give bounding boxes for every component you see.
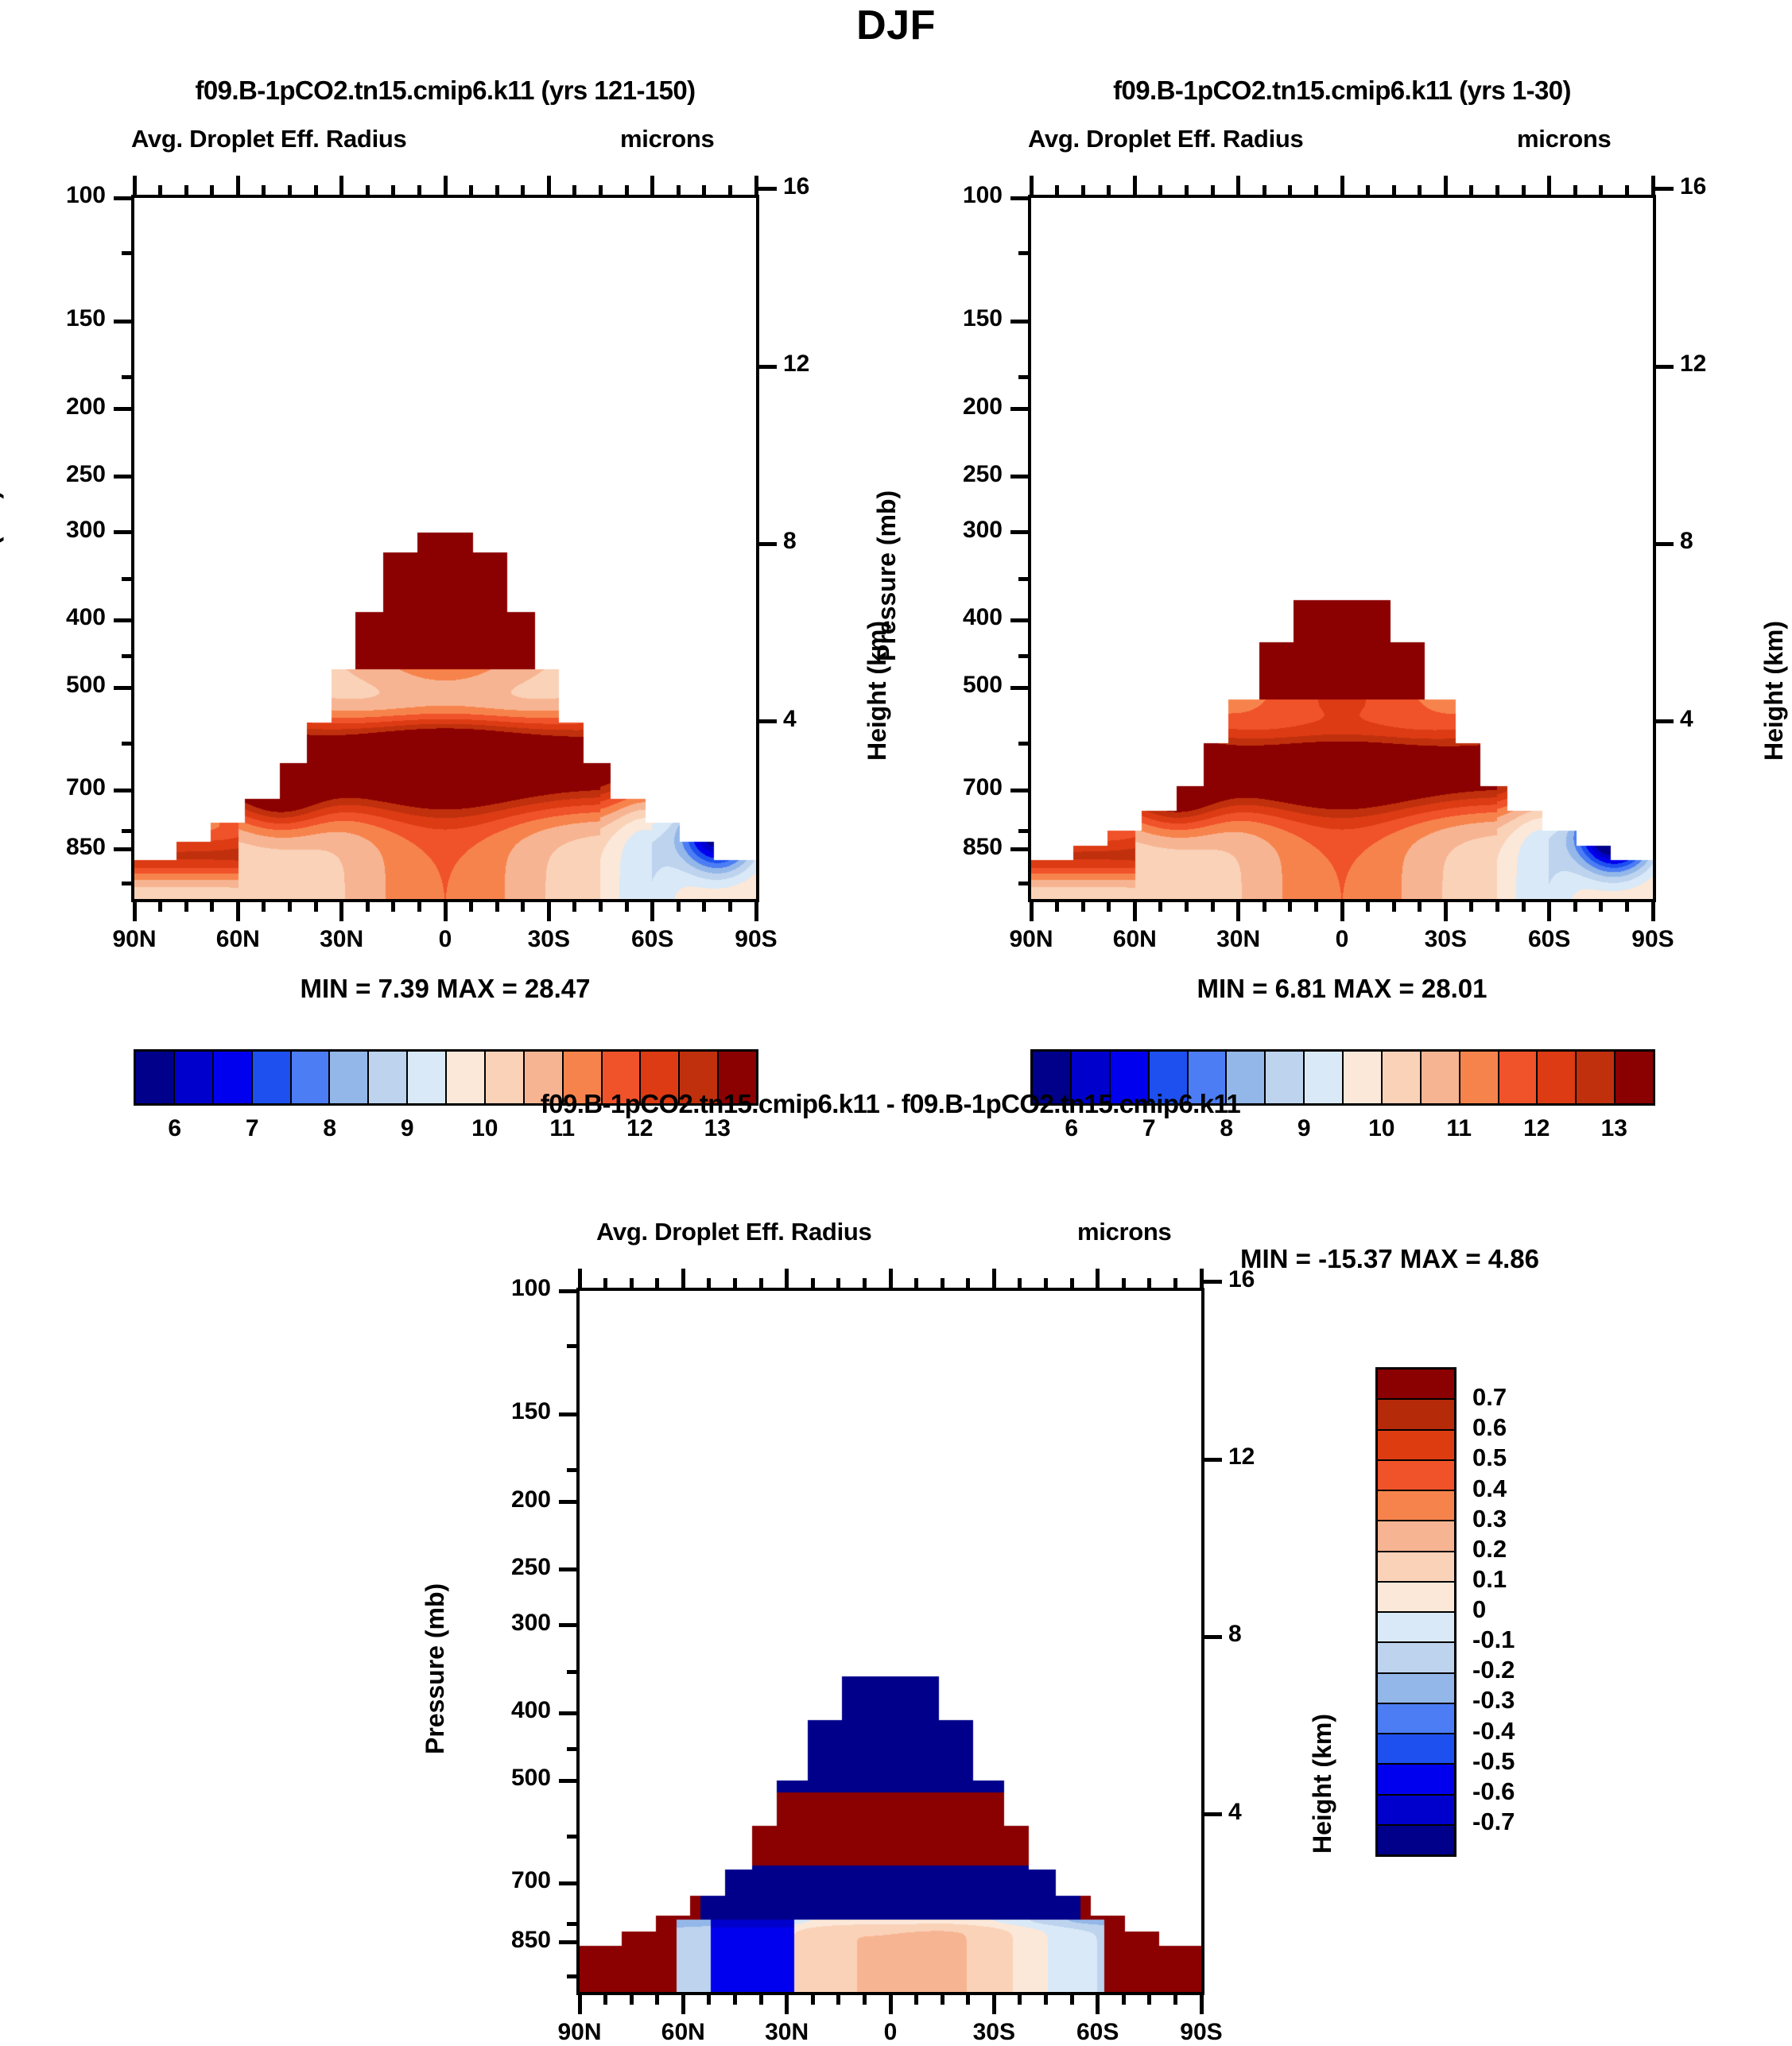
colorbar-segment[interactable] [1538, 1052, 1577, 1103]
lat-tick-bottom [1444, 901, 1448, 921]
colorbar-tick-label: 0.4 [1472, 1474, 1616, 1503]
pressure-tick-label: 850 [909, 834, 1003, 861]
lat-tick-bottom [1651, 901, 1655, 921]
lat-tick-bottom [759, 1994, 763, 2005]
height-tick-label: 12 [1680, 351, 1736, 378]
lat-tick-top [759, 1278, 763, 1289]
lat-tick-bottom [339, 901, 343, 921]
pressure-minor-tick [122, 742, 133, 746]
contour-field [580, 1291, 1201, 1992]
lat-tick-bottom [702, 901, 706, 912]
lat-tick-top [1651, 176, 1655, 196]
colorbar-segment[interactable] [1577, 1052, 1616, 1103]
height-tick [1203, 1812, 1222, 1816]
colorbar-segment[interactable] [1378, 1674, 1454, 1704]
lat-tick-bottom [1211, 901, 1215, 912]
pressure-tick-label: 250 [457, 1554, 551, 1581]
lat-tick-bottom [785, 1994, 789, 2014]
pressure-tick-label: 250 [12, 461, 106, 488]
lat-tick-bottom [1185, 901, 1189, 912]
lat-tick-bottom [941, 1994, 944, 2005]
y2-axis-label: Height (km) [1759, 621, 1789, 761]
colorbar-segment[interactable] [1378, 1796, 1454, 1826]
lat-tick-top [1173, 1278, 1177, 1289]
pressure-tick-label: 400 [909, 604, 1003, 631]
height-tick-label: 4 [1680, 706, 1736, 733]
pressure-minor-tick [122, 251, 133, 255]
colorbar-segment[interactable] [292, 1052, 331, 1103]
pressure-tick [114, 530, 133, 534]
pressure-tick [559, 1500, 578, 1504]
pressure-tick-label: 400 [457, 1697, 551, 1724]
pressure-minor-tick [1018, 882, 1030, 885]
lat-tick-bottom [677, 901, 681, 912]
lat-tick-bottom [547, 901, 551, 921]
pressure-minor-tick [1018, 654, 1030, 658]
pressure-minor-tick [122, 654, 133, 658]
lat-tick-top [547, 176, 551, 196]
colorbar-segment[interactable] [1378, 1461, 1454, 1491]
lat-tick-top [133, 176, 137, 196]
lat-tick-bottom [133, 901, 137, 921]
colorbar-segment[interactable] [1378, 1431, 1454, 1461]
pressure-minor-tick [1018, 829, 1030, 833]
colorbar-tick-label: 0.2 [1472, 1535, 1616, 1564]
lat-tick-top [1044, 1278, 1048, 1289]
lat-tick-top [1366, 185, 1370, 196]
lat-tick-top [314, 185, 318, 196]
lat-tick-top [625, 185, 629, 196]
lat-tick-bottom [1392, 901, 1396, 912]
pressure-tick-label: 100 [457, 1275, 551, 1302]
lat-tick-top [366, 185, 370, 196]
pressure-minor-tick [122, 375, 133, 379]
lat-tick-top [1096, 1269, 1100, 1289]
lat-tick-bottom [1018, 1994, 1022, 2005]
colorbar-segment[interactable] [1616, 1052, 1653, 1103]
colorbar-segment[interactable] [1378, 1370, 1454, 1400]
lat-tick-bottom [1044, 1994, 1048, 2005]
lat-tick-bottom [966, 1994, 970, 2005]
pressure-tick [114, 196, 133, 200]
pressure-tick-label: 850 [12, 834, 106, 861]
panel-units-label: microns [1077, 1218, 1172, 1246]
height-tick-label: 16 [783, 173, 839, 200]
pressure-minor-tick [567, 1468, 578, 1472]
pressure-minor-tick [567, 1747, 578, 1751]
lat-tick-top [1444, 176, 1448, 196]
lat-tick-top [236, 176, 240, 196]
lat-tick-bottom [1314, 901, 1318, 912]
height-tick [1203, 1458, 1222, 1462]
colorbar-segment[interactable] [1499, 1052, 1538, 1103]
pressure-tick [559, 1779, 578, 1783]
lat-tick-top [495, 185, 499, 196]
pressure-minor-tick [1018, 375, 1030, 379]
pressure-minor-tick [567, 1974, 578, 1978]
pressure-minor-tick [567, 1835, 578, 1839]
lat-tick-bottom [262, 901, 266, 912]
colorbar-tick-label: 0.3 [1472, 1505, 1616, 1533]
lat-tick-bottom [1573, 901, 1577, 912]
lat-tick-top [1018, 1278, 1022, 1289]
lat-tick-top [1392, 185, 1396, 196]
colorbar-segment[interactable] [175, 1052, 214, 1103]
min-max-label: MIN = 6.81 MAX = 28.01 [853, 974, 1792, 1004]
contour-field [1031, 198, 1653, 899]
lat-tick-bottom [1418, 901, 1422, 912]
lat-tick-bottom [1366, 901, 1370, 912]
pressure-tick-label: 150 [457, 1398, 551, 1425]
lat-tick-top [521, 185, 525, 196]
colorbar-tick-label: -0.5 [1472, 1747, 1616, 1776]
lat-tick-bottom [444, 901, 448, 921]
lat-tick-top [1625, 185, 1629, 196]
pressure-tick-label: 500 [909, 672, 1003, 699]
colorbar-segment[interactable] [1378, 1643, 1454, 1673]
pressure-tick-label: 850 [457, 1927, 551, 1954]
lat-tick-bottom [863, 1994, 867, 2005]
min-max-label: MIN = -15.37 MAX = 4.86 [1240, 1244, 1733, 1274]
pressure-tick-label: 200 [909, 393, 1003, 420]
colorbar-segment[interactable] [1378, 1734, 1454, 1765]
lat-tick-bottom [495, 901, 499, 912]
lat-tick-top [1547, 176, 1551, 196]
lat-tick-bottom [625, 901, 629, 912]
lat-tick-bottom [733, 1994, 737, 2005]
y-axis-label: Pressure (mb) [872, 490, 902, 661]
colorbar-tick-label: 0 [1472, 1595, 1616, 1624]
colorbar-tick-label: -0.6 [1472, 1777, 1616, 1806]
pressure-tick-label: 250 [909, 461, 1003, 488]
lat-tick-label: 90S [1130, 2019, 1273, 2046]
colorbar-segment[interactable] [1378, 1826, 1454, 1854]
colorbar-tick-label: 0.7 [1472, 1383, 1616, 1412]
lat-tick-top [184, 185, 188, 196]
colorbar-segment[interactable] [1378, 1491, 1454, 1521]
lat-tick-top [444, 176, 448, 196]
height-tick-label: 4 [783, 706, 839, 733]
pressure-minor-tick [122, 475, 133, 479]
colorbar-segment[interactable] [136, 1052, 175, 1103]
lat-tick-bottom [1158, 901, 1162, 912]
pressure-tick [114, 618, 133, 622]
pressure-tick [114, 847, 133, 851]
lat-tick-bottom [811, 1994, 815, 2005]
height-tick [1654, 187, 1674, 191]
pressure-tick [1010, 407, 1030, 411]
lat-tick-top [1495, 185, 1499, 196]
lat-tick-top [1147, 1278, 1151, 1289]
pressure-tick-label: 100 [12, 182, 106, 209]
lat-tick-bottom [681, 1994, 685, 2014]
plot-area [131, 195, 759, 902]
figure-title: DJF [0, 2, 1792, 49]
lat-tick-top [966, 1278, 970, 1289]
pressure-tick-label: 200 [457, 1486, 551, 1513]
lat-tick-bottom [1340, 901, 1344, 921]
plot-area [576, 1288, 1204, 1995]
lat-tick-bottom [288, 901, 292, 912]
lat-tick-top [1107, 185, 1111, 196]
lat-tick-bottom [1030, 901, 1034, 921]
lat-tick-bottom [366, 901, 370, 912]
pressure-tick-label: 700 [909, 774, 1003, 801]
colorbar-tick-label: 13 [1566, 1115, 1662, 1142]
lat-tick-top [914, 1278, 918, 1289]
lat-tick-bottom [1522, 901, 1526, 912]
lat-tick-top [1263, 185, 1266, 196]
height-tick [758, 719, 777, 723]
lat-tick-bottom [1133, 901, 1137, 921]
lat-tick-top [992, 1269, 996, 1289]
panel-title: f09.B-1pCO2.tn15.cmip6.k11 - f09.B-1pCO2… [334, 1089, 1447, 1119]
pressure-tick [1010, 196, 1030, 200]
pressure-tick [114, 407, 133, 411]
lat-tick-top [572, 185, 576, 196]
lat-tick-bottom [1096, 1994, 1100, 2014]
lat-tick-top [578, 1269, 582, 1289]
lat-tick-bottom [1236, 901, 1240, 921]
lat-tick-bottom [914, 1994, 918, 2005]
pressure-minor-tick [567, 1344, 578, 1348]
lat-tick-top [417, 185, 421, 196]
pressure-tick [1010, 686, 1030, 690]
lat-tick-top [1522, 185, 1526, 196]
colorbar-tick-label: 0.5 [1472, 1443, 1616, 1472]
colorbar-segment[interactable] [1378, 1613, 1454, 1643]
pressure-tick [1010, 847, 1030, 851]
pressure-tick-label: 400 [12, 604, 106, 631]
lat-tick-top [1340, 176, 1344, 196]
panel-subtitle-variable: Avg. Droplet Eff. Radius [596, 1218, 871, 1246]
pressure-minor-tick [1018, 742, 1030, 746]
lat-tick-top [1573, 185, 1577, 196]
lat-tick-top [288, 185, 292, 196]
lat-tick-bottom [210, 901, 214, 912]
lat-tick-top [1185, 185, 1189, 196]
lat-tick-bottom [1122, 1994, 1126, 2005]
lat-tick-top [603, 1278, 607, 1289]
lat-tick-label: 90S [685, 926, 828, 953]
colorbar-segment[interactable] [1460, 1052, 1499, 1103]
lat-tick-top [1133, 176, 1137, 196]
colorbar-tick-label: -0.3 [1472, 1686, 1616, 1715]
lat-tick-top [391, 185, 395, 196]
panel-title: f09.B-1pCO2.tn15.cmip6.k11 (yrs 1-30) [785, 76, 1792, 106]
height-tick [1203, 1635, 1222, 1639]
pressure-tick-label: 700 [457, 1867, 551, 1894]
lat-tick-bottom [707, 1994, 711, 2005]
lat-tick-top [1122, 1278, 1126, 1289]
lat-tick-top [785, 1269, 789, 1289]
lat-tick-top [1200, 1269, 1204, 1289]
lat-tick-top [1469, 185, 1473, 196]
min-max-label: MIN = 7.39 MAX = 28.47 [0, 974, 934, 1004]
lat-tick-bottom [521, 901, 525, 912]
lat-tick-bottom [1173, 1994, 1177, 2005]
lat-tick-top [1055, 185, 1059, 196]
colorbar-tick-label: 0.1 [1472, 1565, 1616, 1594]
pressure-tick-label: 200 [12, 393, 106, 420]
colorbar-tick-label: 0.6 [1472, 1413, 1616, 1442]
lat-tick-top [469, 185, 473, 196]
lat-tick-top [863, 1278, 867, 1289]
lat-tick-top [728, 185, 732, 196]
lat-tick-bottom [992, 1994, 996, 2014]
pressure-minor-tick [122, 577, 133, 581]
lat-tick-top [655, 1278, 659, 1289]
lat-tick-bottom [889, 1994, 893, 2014]
colorbar-segment[interactable] [1378, 1583, 1454, 1613]
plot-area [1028, 195, 1656, 902]
pressure-tick [1010, 320, 1030, 324]
pressure-tick-label: 300 [909, 517, 1003, 544]
lat-tick-bottom [1200, 1994, 1204, 2014]
colorbar-tick-label: -0.2 [1472, 1656, 1616, 1684]
pressure-minor-tick [122, 882, 133, 885]
pressure-minor-tick [567, 1670, 578, 1674]
colorbar-segment[interactable] [1378, 1552, 1454, 1583]
lat-tick-bottom [603, 1994, 607, 2005]
lat-tick-bottom [1288, 901, 1292, 912]
colorbar-segment[interactable] [1378, 1704, 1454, 1734]
lat-tick-top [677, 185, 681, 196]
pressure-tick-label: 500 [457, 1765, 551, 1792]
colorbar-tick-label: 13 [669, 1115, 765, 1142]
colorbar-vertical[interactable] [1375, 1367, 1456, 1857]
colorbar-segment[interactable] [214, 1052, 253, 1103]
lat-tick-top [1070, 1278, 1074, 1289]
lat-tick-bottom [1625, 901, 1629, 912]
lat-tick-top [1236, 176, 1240, 196]
lat-tick-top [702, 185, 706, 196]
lat-tick-top [1314, 185, 1318, 196]
lat-tick-top [836, 1278, 840, 1289]
lat-tick-label: 90S [1581, 926, 1724, 953]
lat-tick-top [158, 185, 162, 196]
lat-tick-bottom [1495, 901, 1499, 912]
lat-tick-top [1081, 185, 1085, 196]
height-tick-label: 8 [1228, 1621, 1284, 1648]
height-tick [758, 542, 777, 546]
pressure-tick [114, 789, 133, 792]
lat-tick-top [630, 1278, 634, 1289]
pressure-tick [559, 1623, 578, 1627]
pressure-tick [1010, 789, 1030, 792]
y-axis-label: Pressure (mb) [0, 490, 5, 661]
pressure-tick [559, 1881, 578, 1885]
lat-tick-top [262, 185, 266, 196]
colorbar-tick-label: -0.7 [1472, 1808, 1616, 1836]
pressure-tick-label: 500 [12, 672, 106, 699]
pressure-tick [559, 1412, 578, 1416]
lat-tick-bottom [572, 901, 576, 912]
height-tick [1654, 365, 1674, 369]
lat-tick-top [681, 1269, 685, 1289]
colorbar-segment[interactable] [253, 1052, 292, 1103]
colorbar-tick-label: -0.4 [1472, 1717, 1616, 1746]
lat-tick-bottom [630, 1994, 634, 2005]
lat-tick-bottom [728, 901, 732, 912]
lat-tick-bottom [184, 901, 188, 912]
pressure-tick-label: 700 [12, 774, 106, 801]
lat-tick-bottom [655, 1994, 659, 2005]
height-tick [1654, 542, 1674, 546]
lat-tick-top [941, 1278, 944, 1289]
lat-tick-top [889, 1269, 893, 1289]
contour-field [134, 198, 756, 899]
height-tick-label: 8 [1680, 528, 1736, 555]
pressure-tick [1010, 618, 1030, 622]
colorbar-tick-label: -0.1 [1472, 1626, 1616, 1654]
lat-tick-bottom [599, 901, 603, 912]
lat-tick-bottom [1547, 901, 1551, 921]
lat-tick-top [1158, 185, 1162, 196]
height-tick [1654, 719, 1674, 723]
height-tick-label: 16 [1680, 173, 1736, 200]
pressure-tick [114, 320, 133, 324]
pressure-tick [559, 1289, 578, 1293]
lat-tick-bottom [314, 901, 318, 912]
pressure-tick-label: 150 [909, 305, 1003, 332]
pressure-tick [1010, 530, 1030, 534]
height-tick-label: 8 [783, 528, 839, 555]
pressure-tick-label: 150 [12, 305, 106, 332]
lat-tick-top [210, 185, 214, 196]
lat-tick-bottom [236, 901, 240, 921]
pressure-tick-label: 300 [12, 517, 106, 544]
height-tick-label: 12 [783, 351, 839, 378]
height-tick [758, 365, 777, 369]
lat-tick-top [733, 1278, 737, 1289]
colorbar-segment[interactable] [1378, 1400, 1454, 1430]
lat-tick-bottom [1599, 901, 1603, 912]
lat-tick-top [1030, 176, 1034, 196]
pressure-minor-tick [567, 1922, 578, 1926]
lat-tick-top [650, 176, 654, 196]
lat-tick-bottom [650, 901, 654, 921]
y2-axis-label: Height (km) [1308, 1714, 1337, 1854]
pressure-tick-label: 100 [909, 182, 1003, 209]
pressure-tick [114, 686, 133, 690]
pressure-tick [559, 1711, 578, 1715]
pressure-minor-tick [1018, 475, 1030, 479]
lat-tick-top [1211, 185, 1215, 196]
lat-tick-top [707, 1278, 711, 1289]
pressure-minor-tick [122, 829, 133, 833]
lat-tick-bottom [1469, 901, 1473, 912]
panel-subtitle-variable: Avg. Droplet Eff. Radius [131, 125, 406, 153]
height-tick-label: 4 [1228, 1799, 1284, 1826]
colorbar-segment[interactable] [1378, 1521, 1454, 1552]
y-axis-label: Pressure (mb) [421, 1583, 450, 1754]
lat-tick-bottom [158, 901, 162, 912]
height-tick-label: 12 [1228, 1443, 1284, 1471]
lat-tick-bottom [754, 901, 758, 921]
colorbar-segment[interactable] [1378, 1765, 1454, 1795]
pressure-minor-tick [1018, 577, 1030, 581]
lat-tick-bottom [1147, 1994, 1151, 2005]
pressure-minor-tick [567, 1567, 578, 1571]
lat-tick-bottom [1263, 901, 1266, 912]
height-tick [1203, 1280, 1222, 1284]
lat-tick-bottom [417, 901, 421, 912]
pressure-minor-tick [1018, 251, 1030, 255]
lat-tick-bottom [1070, 1994, 1074, 2005]
height-tick [758, 187, 777, 191]
lat-tick-bottom [578, 1994, 582, 2014]
